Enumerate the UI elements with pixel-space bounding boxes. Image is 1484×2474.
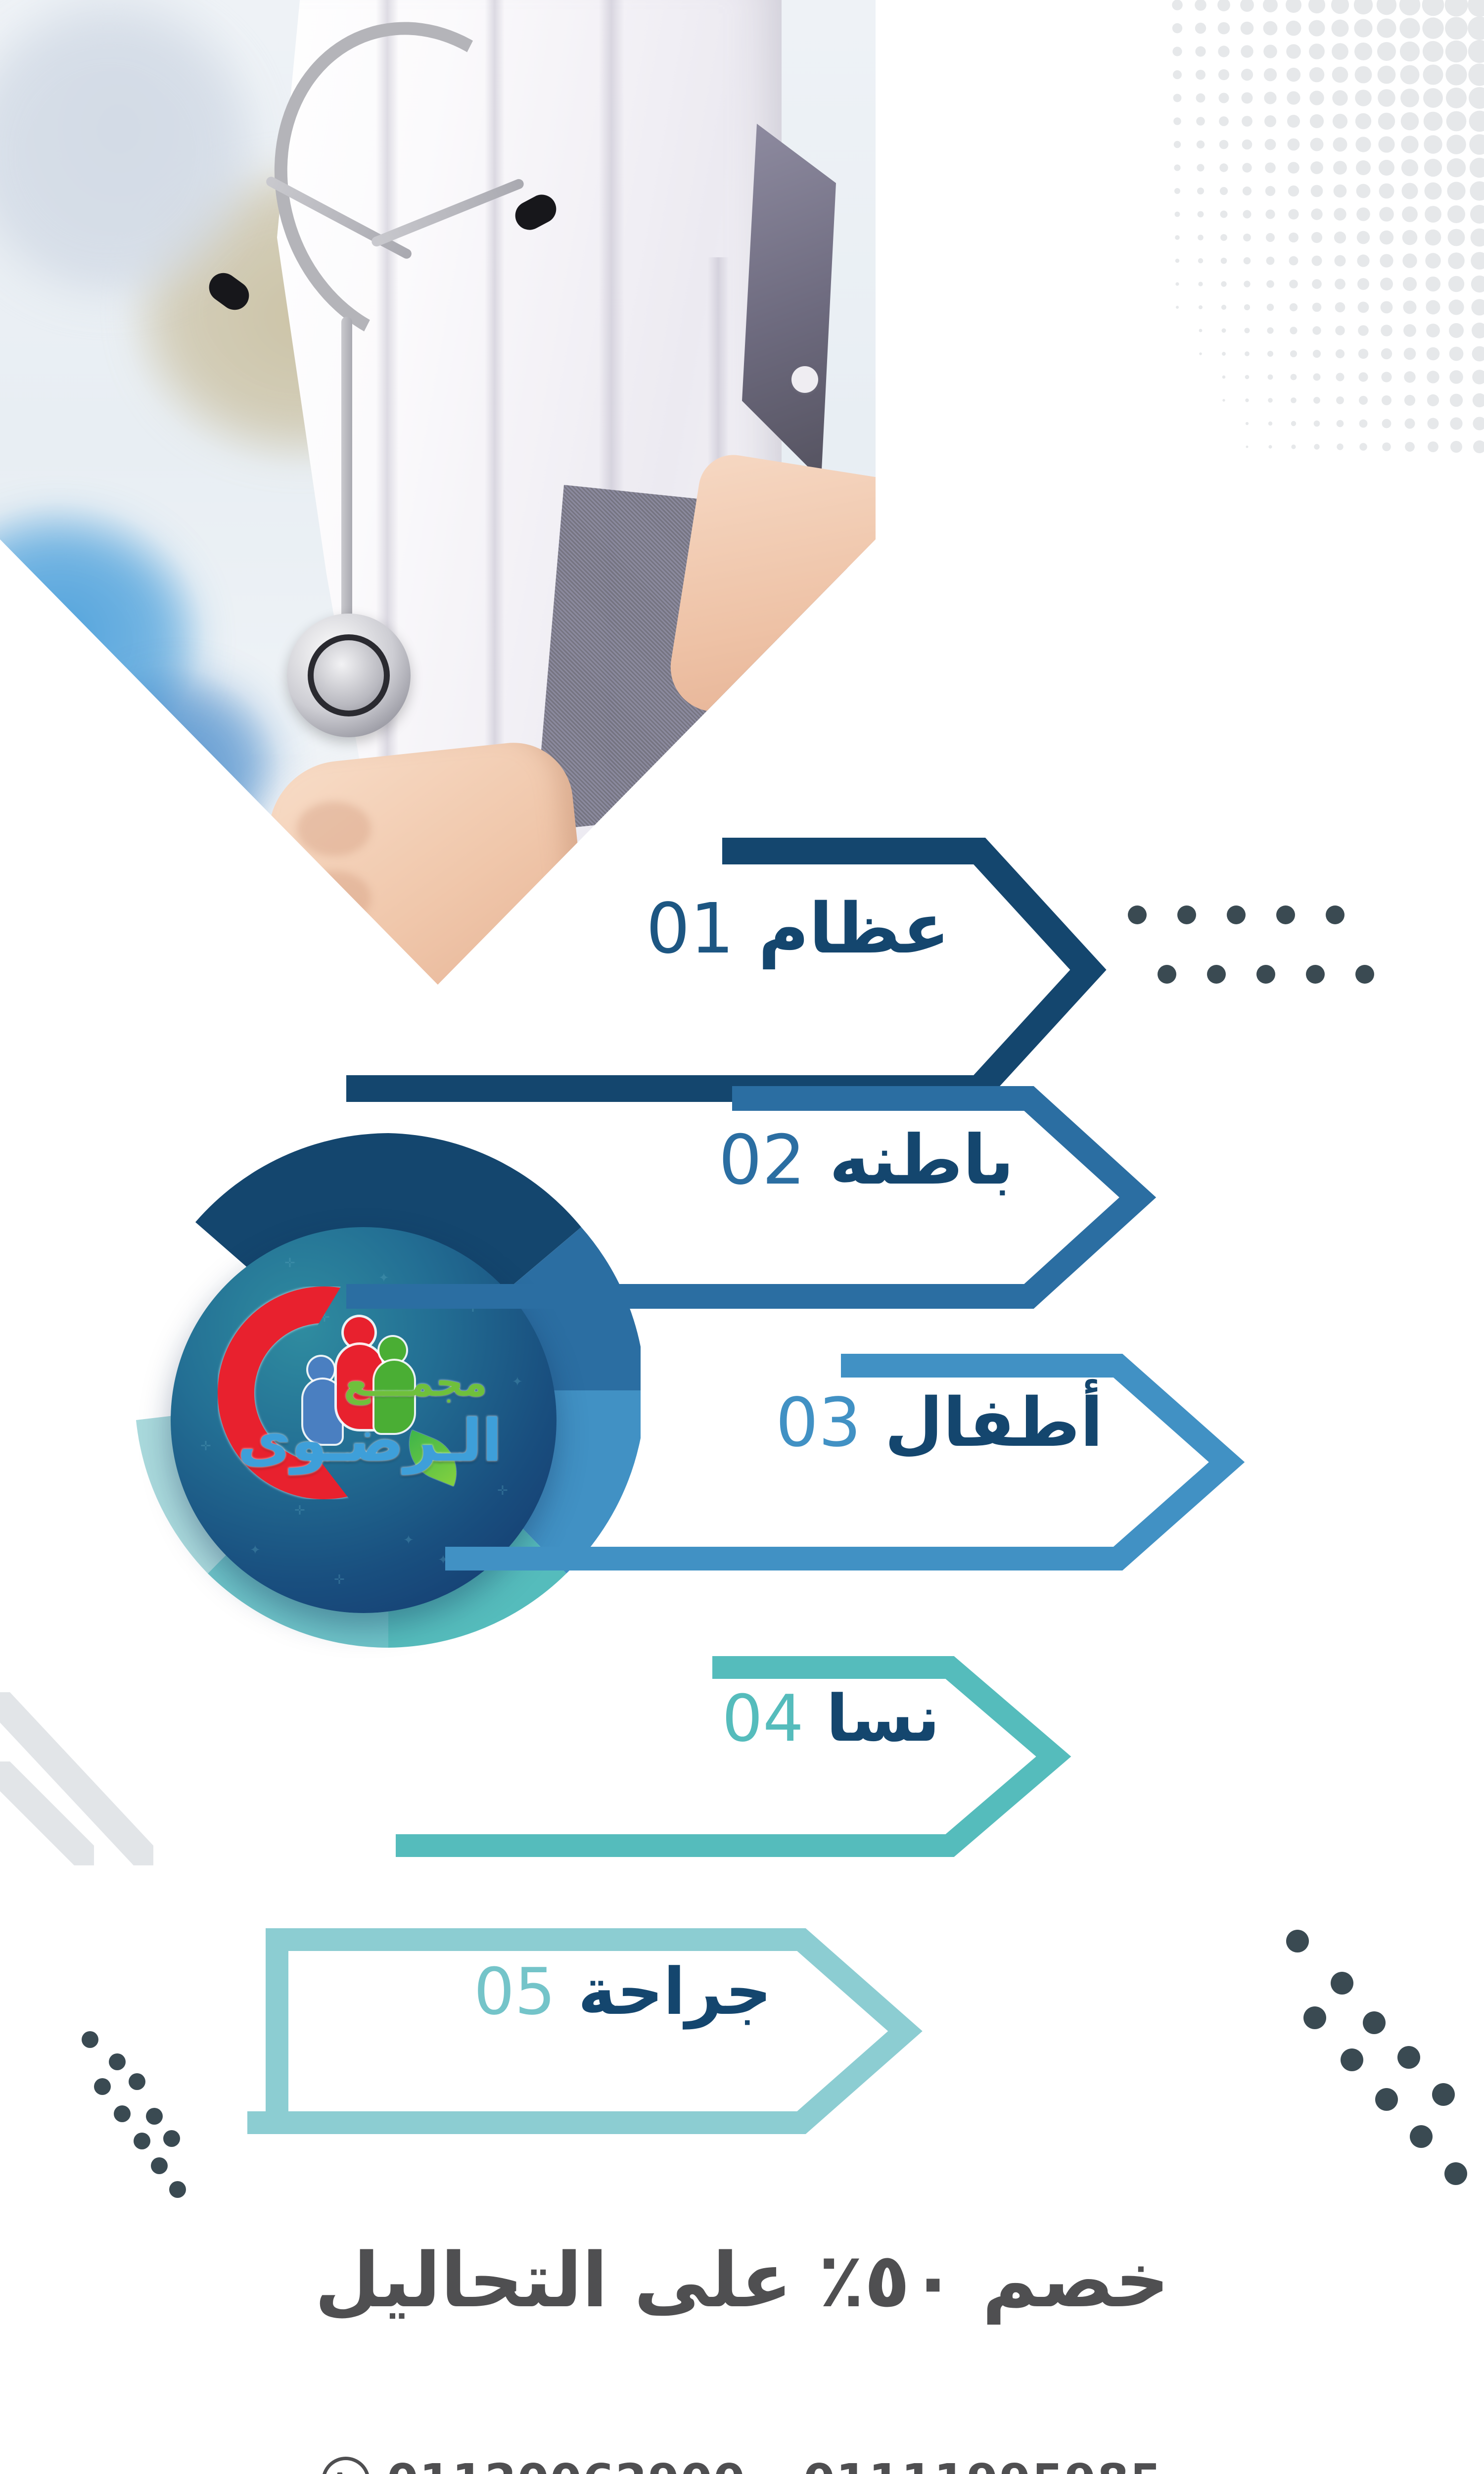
decor-dot (1286, 1930, 1309, 1952)
decor-dot (1326, 905, 1345, 924)
decor-dot (134, 2133, 150, 2149)
poster-canvas: ✦ ✛ ✦ ✛ ✦ ✛ ✦ ✛ ✦ ✛ ✦ ✛ ✦ ✛ مجمـــع الـر… (0, 0, 1484, 2474)
decor-dot (82, 2031, 98, 2048)
department-row-1[interactable]: عظام 01 (317, 831, 1128, 1108)
decor-dot (114, 2105, 131, 2122)
decor-dot (109, 2053, 126, 2070)
department-number-2: 02 (719, 1120, 806, 1200)
department-label-4: نسا 04 (722, 1686, 940, 1751)
department-number-3: 03 (776, 1384, 861, 1462)
decor-dot (1410, 2125, 1433, 2148)
decor-dot (146, 2108, 163, 2125)
decor-dot (1432, 2083, 1455, 2106)
decor-dot (1256, 965, 1275, 984)
department-row-2[interactable]: باطنه 02 (317, 1079, 1177, 1316)
department-number-5: 05 (474, 1954, 556, 2029)
department-label-1: عظام 01 (646, 895, 950, 964)
decor-dot (1363, 2011, 1386, 2034)
department-name-5: جراحة (578, 1954, 772, 2029)
dot-cluster-top-right (1128, 905, 1405, 1029)
decor-dot (1444, 2162, 1467, 2185)
decor-dot (1303, 2006, 1326, 2029)
decor-dot (1227, 905, 1246, 924)
phone-icon (322, 2457, 370, 2474)
department-row-3[interactable]: أطفال 03 (416, 1346, 1266, 1578)
decor-dot (1177, 905, 1196, 924)
decor-dot (169, 2181, 186, 2198)
department-label-5: جراحة 05 (474, 1959, 772, 2024)
decor-dot (1341, 2048, 1363, 2071)
decor-dot (1128, 905, 1147, 924)
decor-dot (151, 2157, 168, 2174)
department-label-3: أطفال 03 (776, 1389, 1103, 1457)
decor-dot (1355, 965, 1374, 984)
department-row-5[interactable]: جراحة 05 (218, 1925, 930, 2142)
department-name-1: عظام (758, 889, 950, 969)
decor-dot (1276, 905, 1295, 924)
department-label-2: باطنه 02 (719, 1126, 1014, 1194)
phone-numbers[interactable]: 01120062900 – 01111995985 (387, 2454, 1162, 2474)
discount-headline: خصم ٥٠٪ على التحاليل (0, 2236, 1484, 2324)
department-number-4: 04 (722, 1681, 803, 1756)
decor-dot (1306, 965, 1325, 984)
decor-dot (94, 2078, 111, 2095)
department-name-3: أطفال (884, 1384, 1103, 1462)
contact-row[interactable]: 01120062900 – 01111995985 (0, 2454, 1484, 2474)
decor-dot (163, 2130, 180, 2147)
decor-dot (129, 2073, 145, 2090)
department-name-2: باطنه (829, 1120, 1014, 1200)
decor-dot (1207, 965, 1226, 984)
department-row-4[interactable]: نسا 04 (366, 1648, 1088, 1865)
department-number-1: 01 (646, 889, 734, 969)
decor-dot (1158, 965, 1176, 984)
decor-dot (1397, 2046, 1420, 2069)
halftone-dot-pattern (1158, 0, 1484, 465)
decor-dot (1375, 2088, 1398, 2111)
grey-diagonal-stripes-left (0, 1682, 247, 1999)
department-name-4: نسا (826, 1681, 940, 1756)
decor-dot (1331, 1972, 1353, 1995)
dot-cluster-left (64, 1984, 223, 2182)
dot-cluster-mid-right (1227, 1920, 1484, 2177)
